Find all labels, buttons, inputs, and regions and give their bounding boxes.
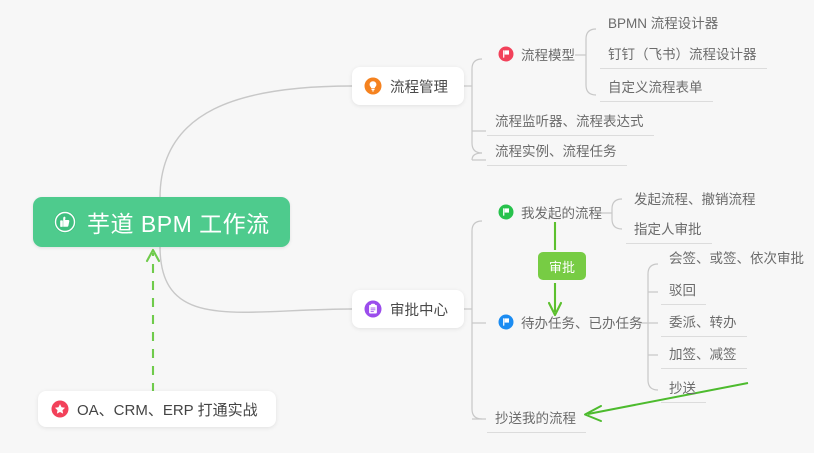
label-process-model: 流程模型 (521, 44, 575, 64)
star-icon (51, 400, 69, 418)
label-carbon-copy: 抄送 (669, 377, 696, 397)
label-add-remove-sign: 加签、减签 (669, 343, 737, 363)
label-custom-process-form: 自定义流程表单 (608, 76, 703, 96)
wire-pm-trunk-lower (472, 153, 482, 160)
root-label: 芋道 BPM 工作流 (87, 205, 270, 239)
branch-node-approval-center[interactable]: 审批中心 (352, 290, 464, 328)
label-delegate-transfer: 委派、转办 (669, 311, 737, 331)
label-listener-expression: 流程监听器、流程表达式 (495, 110, 644, 130)
label-assigned-approval: 指定人审批 (634, 218, 702, 238)
wire-pm-trunk-upper (472, 59, 482, 153)
clipboard-icon (364, 300, 382, 318)
wire-started-trunk (612, 199, 622, 229)
label-instance-task: 流程实例、流程任务 (495, 140, 617, 160)
node-start-cancel-process[interactable]: 发起流程、撤销流程 (626, 186, 766, 213)
node-custom-process-form[interactable]: 自定义流程表单 (600, 74, 713, 102)
flag-icon (498, 46, 514, 62)
label-cc-to-me-process: 抄送我的流程 (495, 407, 576, 427)
label-todo-done-task: 待办任务、已办任务 (521, 312, 643, 332)
cc-link-arrow-head (585, 406, 601, 421)
node-instance-task[interactable]: 流程实例、流程任务 (487, 138, 627, 166)
approval-tag-label: 审批 (549, 257, 575, 276)
wire-ac-trunk (472, 221, 482, 419)
label-start-cancel-process: 发起流程、撤销流程 (634, 188, 756, 208)
label-my-started-process: 我发起的流程 (521, 202, 602, 222)
dashed-arrow-head (147, 250, 159, 261)
wire-root-to-process-management (160, 86, 352, 198)
node-reject[interactable]: 驳回 (661, 277, 706, 305)
label-bpmn-designer: BPMN 流程设计器 (608, 12, 718, 32)
branch-label-approval-center: 审批中心 (390, 299, 448, 320)
mindmap-canvas: 芋道 BPM 工作流 流程管理 流程模型 BPMN 流程设计器 钉钉（飞书 (0, 0, 814, 453)
node-listener-expression[interactable]: 流程监听器、流程表达式 (487, 108, 654, 136)
node-bpmn-designer[interactable]: BPMN 流程设计器 (600, 10, 728, 37)
lightbulb-pin-icon (364, 77, 382, 95)
branch-label-process-management: 流程管理 (390, 76, 448, 97)
label-reject: 驳回 (669, 279, 696, 299)
flag-icon (498, 314, 514, 330)
node-dingtalk-feishu-designer[interactable]: 钉钉（飞书）流程设计器 (600, 41, 767, 69)
node-cc-to-me-process[interactable]: 抄送我的流程 (487, 405, 586, 433)
approval-tag[interactable]: 审批 (538, 252, 586, 280)
thumbs-up-icon (53, 210, 77, 234)
node-carbon-copy[interactable]: 抄送 (661, 375, 706, 403)
node-countersign[interactable]: 会签、或签、依次审批 (661, 245, 814, 272)
node-delegate-transfer[interactable]: 委派、转办 (661, 309, 747, 337)
node-process-model[interactable]: 流程模型 (490, 42, 585, 69)
wire-root-to-approval-center (160, 246, 352, 312)
flag-icon (498, 204, 514, 220)
wire-model-trunk (586, 29, 596, 95)
branch-node-process-management[interactable]: 流程管理 (352, 67, 464, 105)
label-countersign: 会签、或签、依次审批 (669, 247, 804, 267)
root-node[interactable]: 芋道 BPM 工作流 (33, 197, 290, 247)
node-todo-done-task[interactable]: 待办任务、已办任务 (490, 310, 653, 337)
floating-label-integration-practice: OA、CRM、ERP 打通实战 (77, 399, 258, 420)
node-add-remove-sign[interactable]: 加签、减签 (661, 341, 747, 369)
floating-node-integration-practice[interactable]: OA、CRM、ERP 打通实战 (38, 391, 276, 427)
label-dingtalk-feishu-designer: 钉钉（飞书）流程设计器 (608, 43, 757, 63)
node-my-started-process[interactable]: 我发起的流程 (490, 200, 612, 227)
node-assigned-approval[interactable]: 指定人审批 (626, 216, 712, 244)
